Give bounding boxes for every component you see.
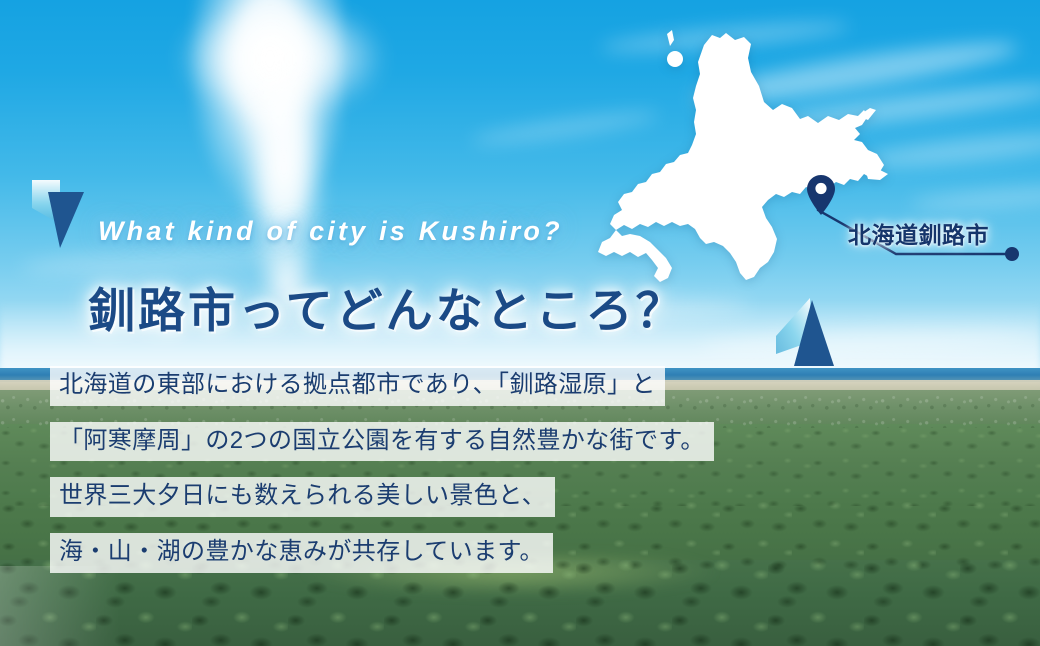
body-line: 海・山・湖の豊かな恵みが共存しています。 [50, 533, 553, 573]
map-label-kushiro: 北海道釧路市 [848, 216, 989, 250]
flag-chevron-mark-left-icon [30, 178, 88, 250]
body-line: 「阿寒摩周」の2つの国立公園を有する自然豊かな街です。 [50, 422, 714, 462]
body-line: 北海道の東部における拠点都市であり、「釧路湿原」と [50, 366, 665, 406]
body-copy: 北海道の東部における拠点都市であり、「釧路湿原」と 「阿寒摩周」の2つの国立公園… [50, 366, 714, 589]
map-pin-icon [806, 174, 836, 216]
page-title: 釧路市ってどんなところ？ [88, 272, 686, 341]
flag-chevron-mark-right-icon [772, 296, 836, 368]
body-line: 世界三大夕日にも数えられる美しい景色と、 [50, 477, 555, 517]
kushiro-hero-banner: 北海道釧路市 [0, 0, 1040, 646]
eyebrow-english-title: What kind of city is Kushiro? [98, 216, 563, 247]
